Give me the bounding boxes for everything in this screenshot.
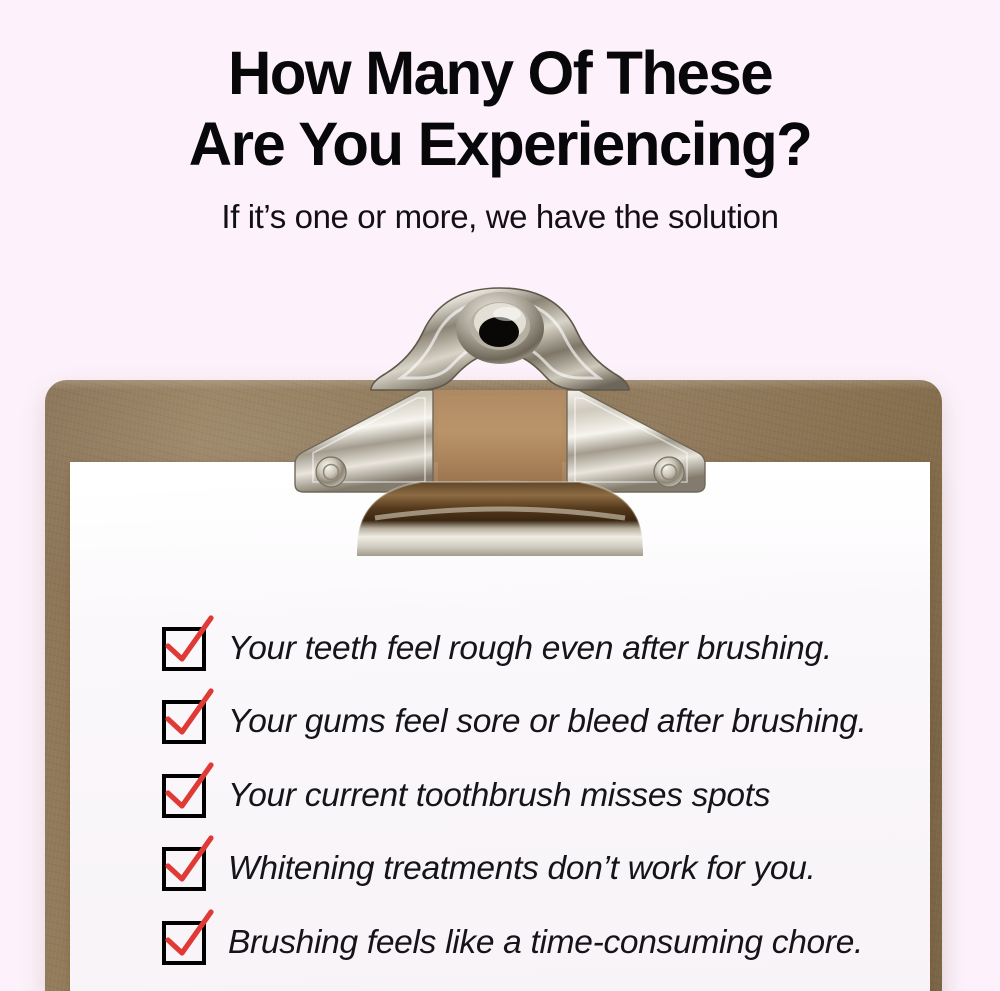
- checkmark-icon: [159, 909, 217, 965]
- clip-hole-specular: [493, 307, 521, 321]
- checkmark-icon: [159, 835, 217, 891]
- headline-line-1: How Many Of These: [8, 44, 993, 103]
- checkbox-1[interactable]: [162, 627, 206, 671]
- checkbox-5[interactable]: [162, 921, 206, 965]
- clip-bottom-bar: [357, 482, 643, 556]
- symptom-checklist: Your teeth feel rough even after brushin…: [162, 612, 952, 980]
- checklist-item[interactable]: Brushing feels like a time-consuming cho…: [162, 906, 952, 980]
- checkmark-icon: [159, 688, 217, 744]
- checklist-item-label: Your gums feel sore or bleed after brush…: [228, 703, 867, 741]
- checklist-item-label: Your teeth feel rough even after brushin…: [228, 630, 832, 668]
- clip-left-rivet: [316, 457, 346, 487]
- subheadline: If it’s one or more, we have the solutio…: [0, 198, 1000, 236]
- checkbox-2[interactable]: [162, 700, 206, 744]
- checklist-item[interactable]: Your gums feel sore or bleed after brush…: [162, 686, 952, 760]
- infographic-canvas: How Many Of These Are You Experiencing? …: [0, 0, 1000, 991]
- clip-hole: [479, 317, 519, 347]
- clip-right-rivet: [654, 457, 684, 487]
- checklist-item-label: Whitening treatments don’t work for you.: [228, 850, 816, 888]
- checklist-item-label: Brushing feels like a time-consuming cho…: [228, 924, 863, 962]
- clipboard-clip[interactable]: [185, 286, 815, 554]
- checkmark-icon: [159, 762, 217, 818]
- checkmark-icon: [159, 615, 217, 671]
- checklist-item[interactable]: Your current toothbrush misses spots: [162, 759, 952, 833]
- clip-left-arm: [295, 390, 433, 492]
- clip-right-arm: [567, 390, 705, 492]
- header: How Many Of These Are You Experiencing? …: [0, 0, 1000, 236]
- checklist-item[interactable]: Your teeth feel rough even after brushin…: [162, 612, 952, 686]
- checklist-item[interactable]: Whitening treatments don’t work for you.: [162, 833, 952, 907]
- headline-line-2: Are You Experiencing?: [8, 115, 993, 174]
- checkbox-3[interactable]: [162, 774, 206, 818]
- page-title: How Many Of These Are You Experiencing?: [8, 44, 993, 174]
- checkbox-4[interactable]: [162, 847, 206, 891]
- clip-illustration: [185, 286, 815, 554]
- checklist-item-label: Your current toothbrush misses spots: [228, 777, 770, 815]
